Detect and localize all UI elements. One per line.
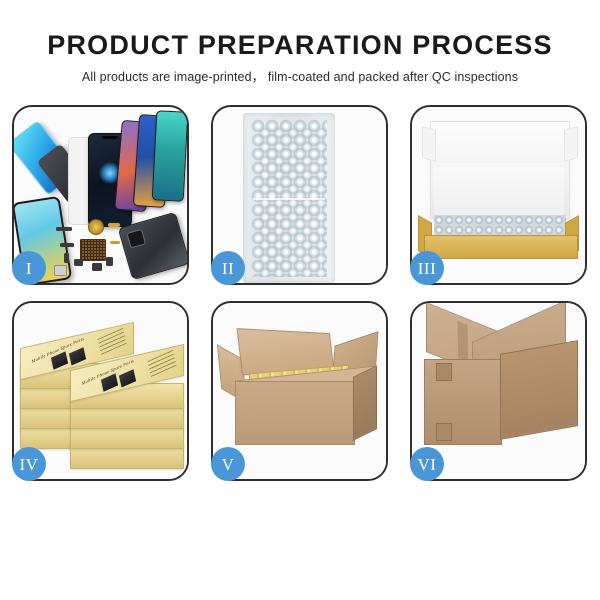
carton-handle-tab-icon	[436, 423, 452, 441]
steps-row-1: I II	[12, 105, 588, 285]
part-speaker-icon	[92, 263, 102, 271]
carton-handle-tab-icon	[436, 363, 452, 381]
part-gold-contact-icon	[110, 241, 120, 244]
box-screen-graphic-icon	[118, 368, 138, 389]
part-coil-icon	[88, 219, 104, 235]
part-bracket-icon	[60, 243, 74, 247]
phone-notch-icon	[102, 136, 118, 139]
step-panel-1: I	[12, 105, 189, 285]
carton-side-icon	[353, 365, 377, 441]
page-subtitle: All products are image-printed， film-coa…	[0, 66, 600, 85]
sealed-carton-side-icon	[500, 340, 578, 440]
step-panel-5: V	[211, 301, 388, 481]
step-badge-4: IV	[12, 447, 46, 481]
step-badge-5: V	[211, 447, 245, 481]
part-ic-grid-icon	[80, 239, 106, 261]
step-panel-6: VI	[410, 301, 587, 481]
steps-row-2: Mobile Phone Spare Parts Mobile Phone Sp…	[12, 301, 588, 481]
bubble-wrap-bag-icon	[243, 113, 335, 283]
box-screen-graphic-icon	[68, 346, 88, 367]
part-button-icon	[64, 253, 69, 263]
part-camera-icon	[74, 259, 83, 266]
part-connector-icon	[56, 227, 72, 231]
step-badge-1: I	[12, 251, 46, 285]
box-text-lines-icon	[148, 350, 177, 377]
carton-front-icon	[235, 381, 355, 445]
bubble-pattern-overlay-icon	[258, 126, 327, 277]
part-module-icon	[54, 265, 67, 276]
page-title: PRODUCT PREPARATION PROCESS	[0, 30, 600, 61]
phone-teal-icon	[152, 110, 187, 202]
box-text-lines-icon	[98, 328, 127, 355]
step-badge-2: II	[211, 251, 245, 285]
step-badge-6: VI	[410, 447, 444, 481]
step-panel-3: III	[410, 105, 587, 285]
box-stack-icon: Mobile Phone Spare Parts Mobile Phone Sp…	[20, 315, 186, 475]
step-panel-2: II	[211, 105, 388, 285]
step-badge-3: III	[410, 251, 444, 285]
part-flex-cable-icon	[108, 223, 120, 227]
part-sim-tray-icon	[106, 257, 113, 266]
mailer-front-panel-icon	[424, 235, 578, 259]
product-preparation-infographic: PRODUCT PREPARATION PROCESS All products…	[0, 0, 600, 600]
bag-seam-icon	[253, 198, 325, 200]
steps-grid: I II	[12, 105, 588, 497]
step-panel-4: Mobile Phone Spare Parts Mobile Phone Sp…	[12, 301, 189, 481]
foam-sheet-icon	[434, 167, 564, 215]
